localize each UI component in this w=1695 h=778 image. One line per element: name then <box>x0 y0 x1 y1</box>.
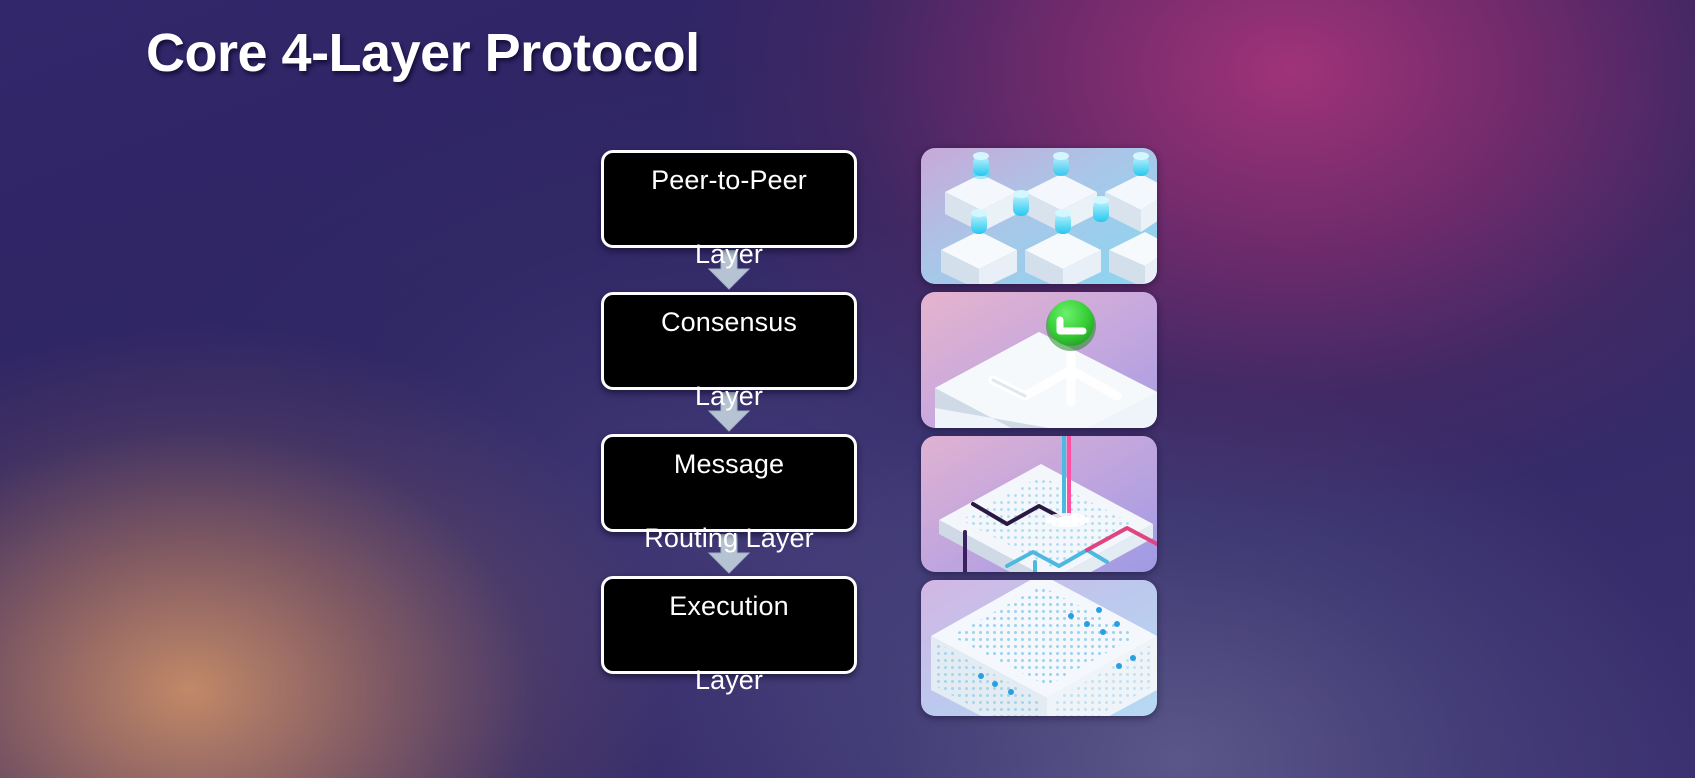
execution-grid-icon <box>921 580 1157 716</box>
slide-canvas: Core 4-Layer Protocol Peer-to-Peer Layer… <box>0 0 1695 778</box>
layer-label: Message Routing Layer <box>644 409 813 558</box>
layer-label: Consensus Layer <box>661 267 797 416</box>
layer-label: Peer-to-Peer Layer <box>651 125 807 274</box>
protocol-layer-flow: Peer-to-Peer Layer Consensus Layer Messa <box>601 150 857 674</box>
consensus-check-icon <box>921 292 1157 428</box>
layer-illustration-column <box>921 148 1157 716</box>
layer-label-line1: Message <box>674 449 784 479</box>
layer-label-line2: Layer <box>695 381 763 411</box>
thumb-peer-to-peer[interactable] <box>921 148 1157 284</box>
layer-label-line1: Peer-to-Peer <box>651 165 807 195</box>
layer-box-execution[interactable]: Execution Layer <box>601 576 857 674</box>
routing-grid-icon <box>921 436 1157 572</box>
layer-label-line2: Routing Layer <box>644 523 813 553</box>
isometric-cubes-nodes-icon <box>921 148 1157 284</box>
layer-label-line2: Layer <box>695 239 763 269</box>
layer-box-message-routing[interactable]: Message Routing Layer <box>601 434 857 532</box>
thumb-message-routing[interactable] <box>921 436 1157 572</box>
thumb-consensus[interactable] <box>921 292 1157 428</box>
layer-label-line1: Execution <box>669 591 788 621</box>
thumb-execution[interactable] <box>921 580 1157 716</box>
layer-label-line1: Consensus <box>661 307 797 337</box>
layer-box-consensus[interactable]: Consensus Layer <box>601 292 857 390</box>
layer-box-peer-to-peer[interactable]: Peer-to-Peer Layer <box>601 150 857 248</box>
page-title: Core 4-Layer Protocol <box>146 22 700 84</box>
layer-label: Execution Layer <box>669 551 788 700</box>
layer-label-line2: Layer <box>695 665 763 695</box>
